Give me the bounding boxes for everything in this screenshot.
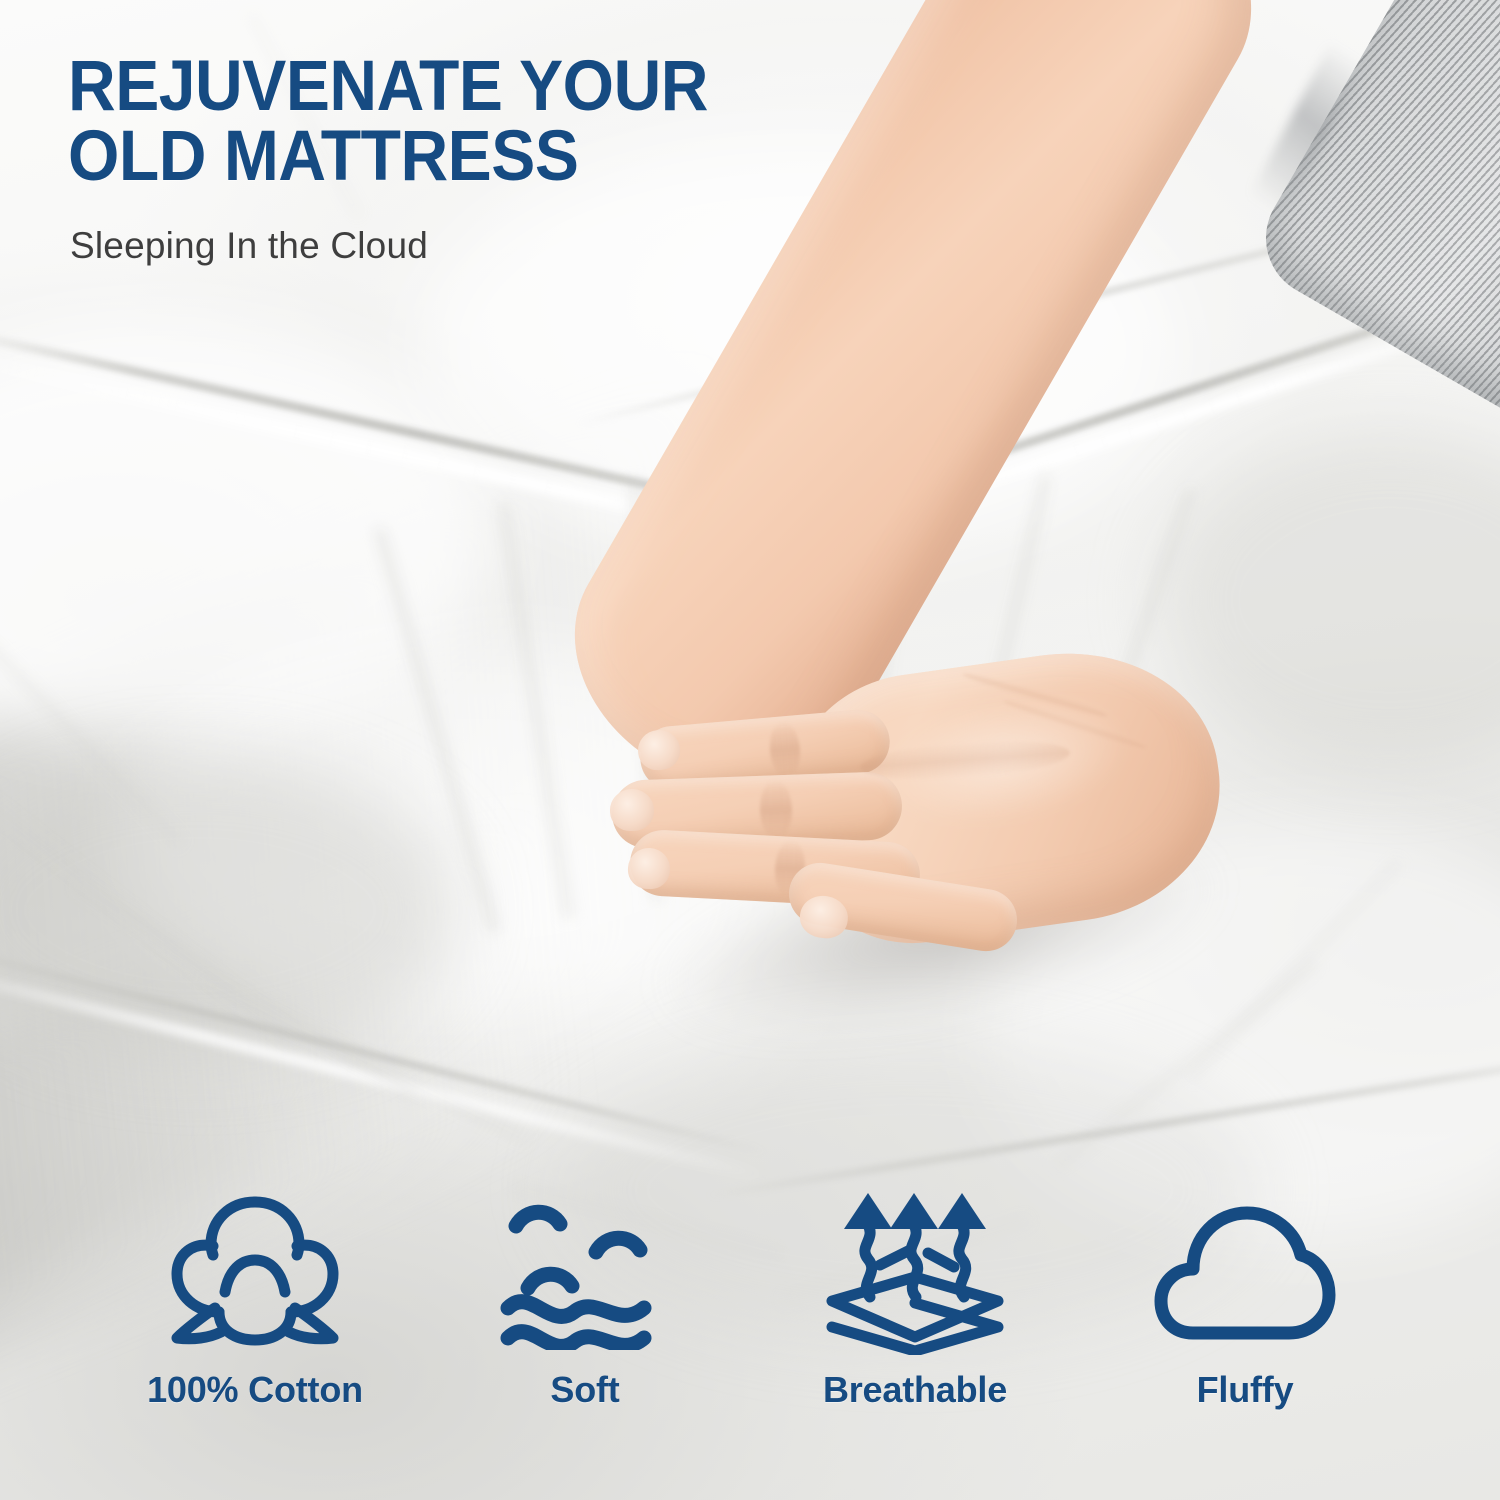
product-banner: REJUVENATE YOUR OLD MATTRESS Sleeping In… <box>0 0 1500 1500</box>
feature-item-cotton[interactable]: 100% Cotton <box>90 1185 420 1411</box>
page-subtitle: Sleeping In the Cloud <box>70 225 428 267</box>
feature-item-breathable[interactable]: Breathable <box>750 1185 1080 1411</box>
fingernail-middle <box>609 788 654 832</box>
feature-label-soft: Soft <box>550 1369 619 1411</box>
feature-label-breathable: Breathable <box>823 1369 1007 1411</box>
cotton-boll-icon <box>163 1185 348 1355</box>
feature-item-soft[interactable]: Soft <box>420 1185 750 1411</box>
fluffy-cloud-icon <box>1153 1185 1338 1355</box>
page-title: REJUVENATE YOUR OLD MATTRESS <box>68 52 905 191</box>
feature-row: 100% Cotton Soft <box>0 1185 1500 1445</box>
breathable-layers-icon <box>818 1185 1013 1355</box>
feature-label-cotton: 100% Cotton <box>147 1369 363 1411</box>
feature-item-fluffy[interactable]: Fluffy <box>1080 1185 1410 1411</box>
feature-label-fluffy: Fluffy <box>1197 1369 1294 1411</box>
soft-waves-icon <box>498 1185 673 1355</box>
